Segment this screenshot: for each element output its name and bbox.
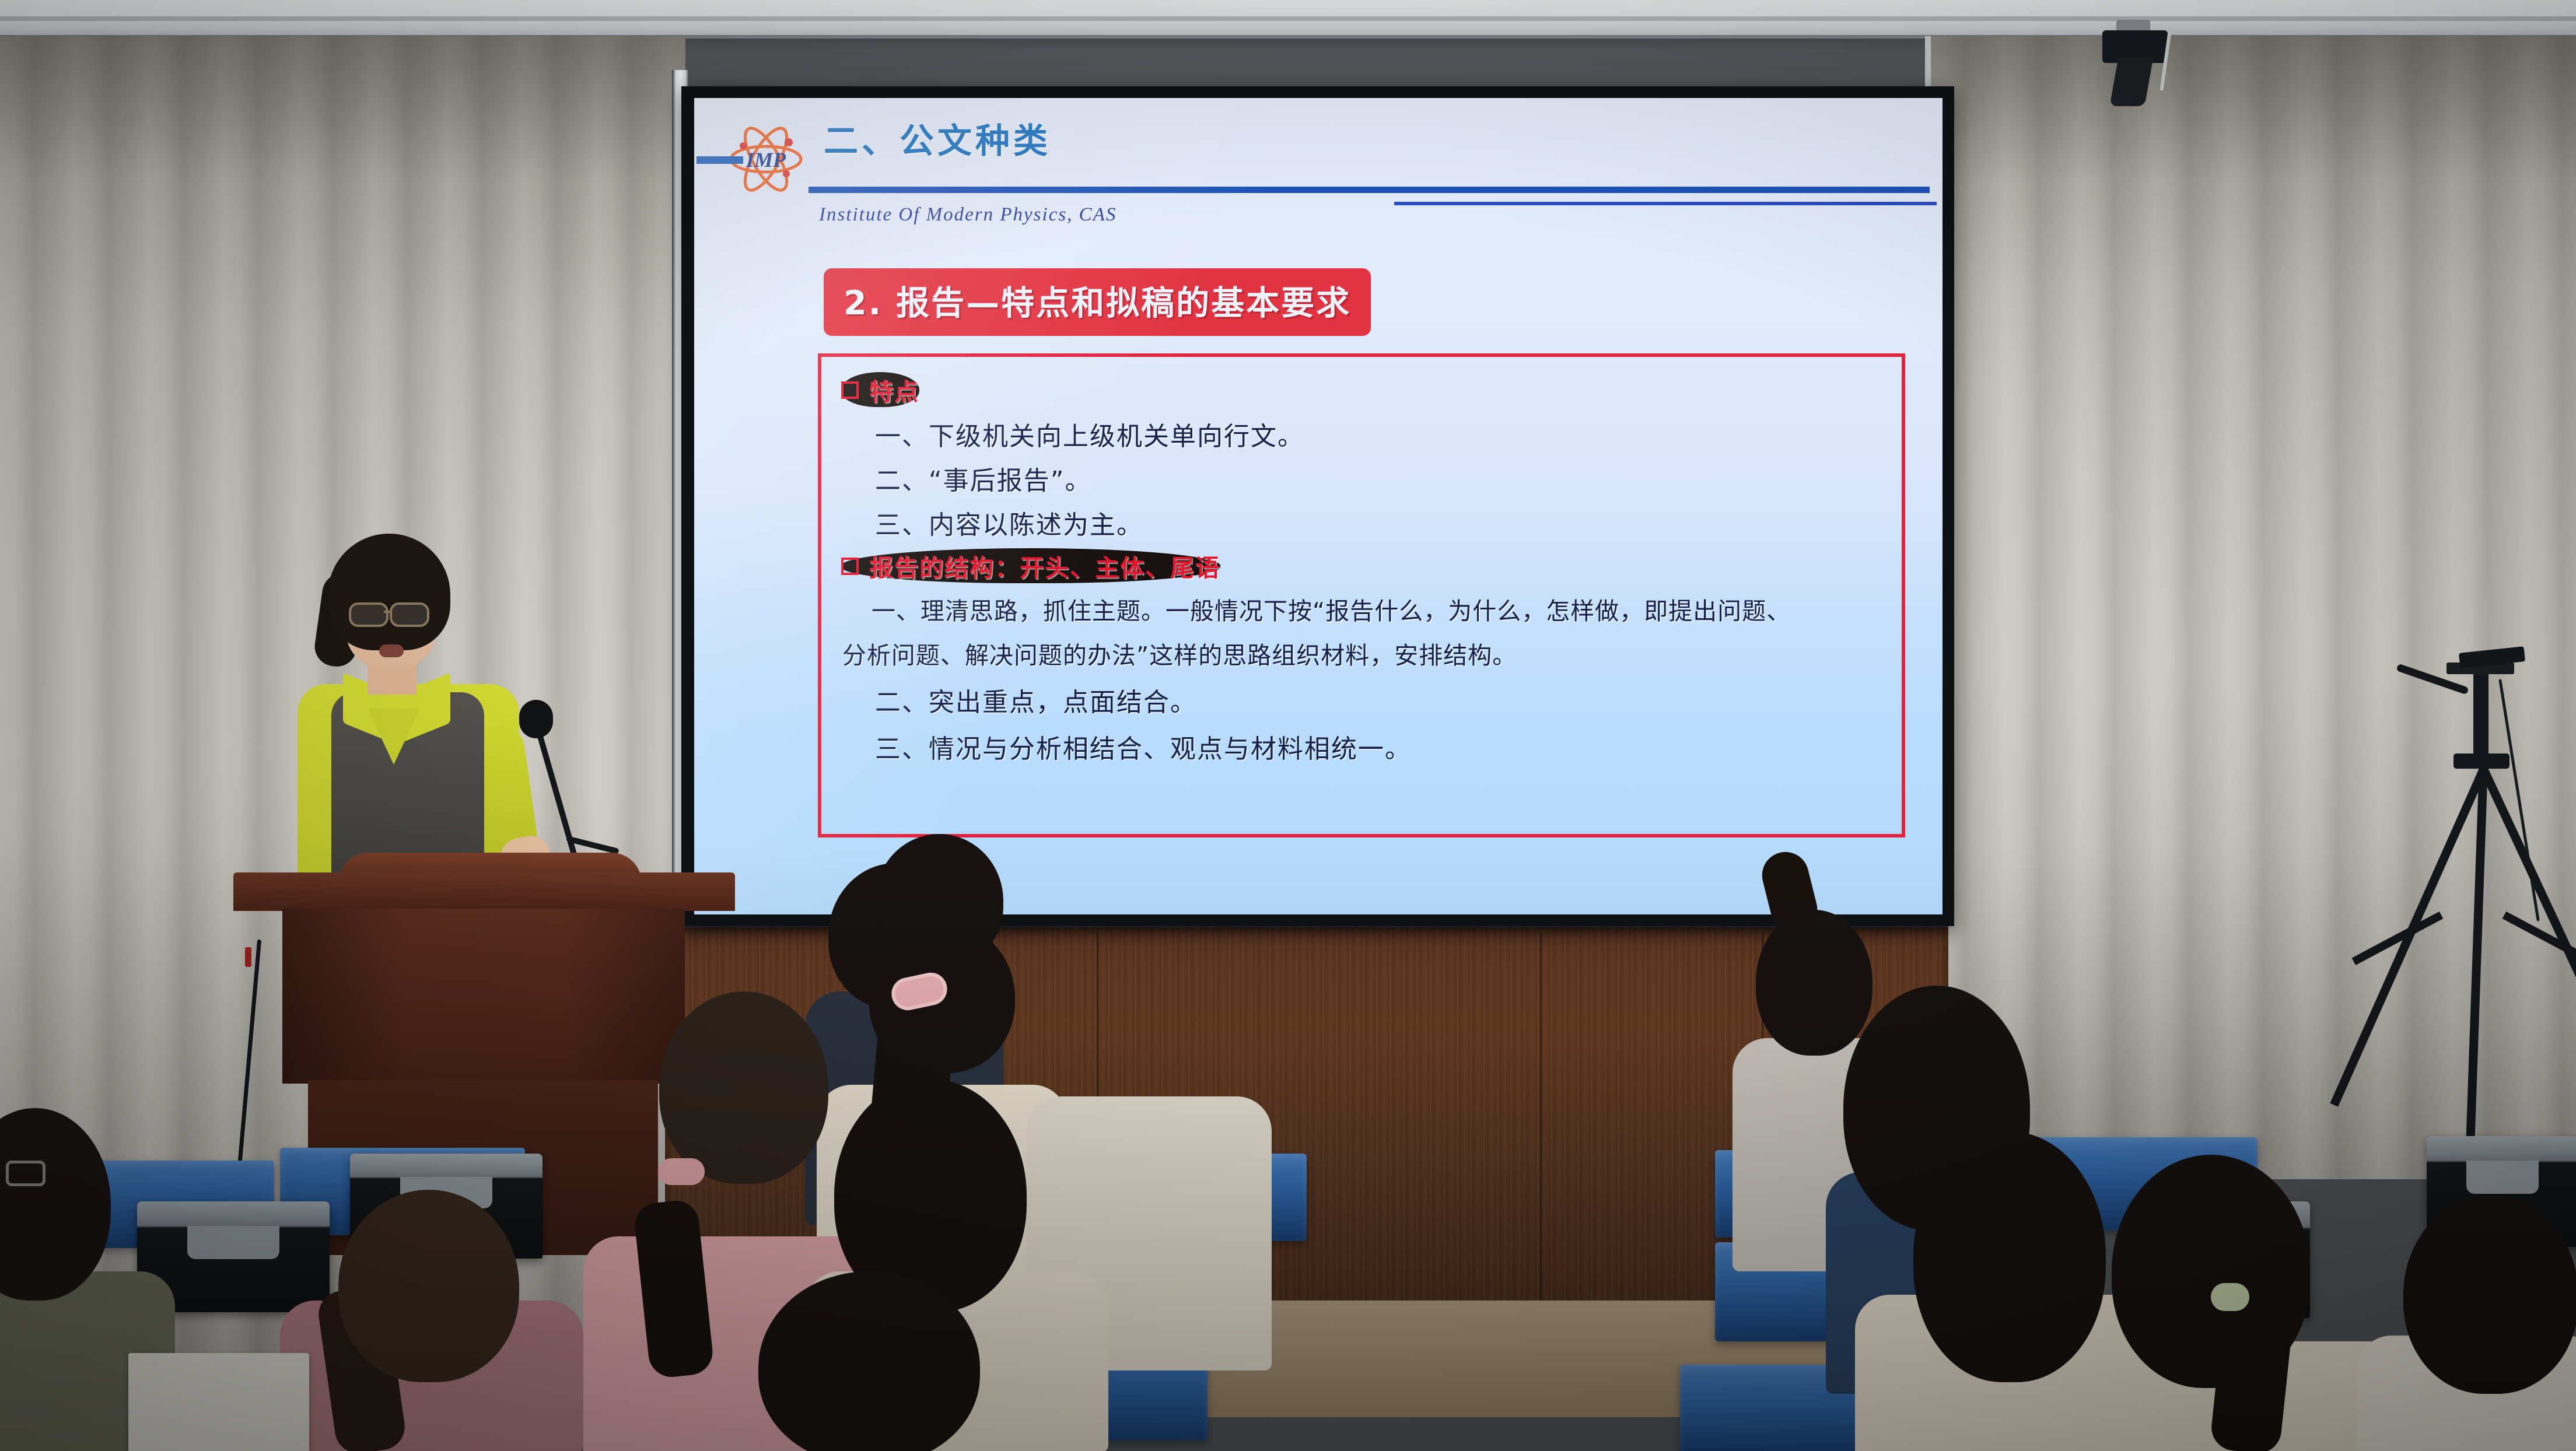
lectern-cable: [235, 940, 261, 1196]
tripod-leg: [2466, 764, 2488, 1137]
slide-list-item: 二、“事后报告”。: [875, 460, 1092, 497]
audience-head: [338, 1190, 519, 1382]
audience-ponytail: [2209, 1303, 2294, 1451]
curtain-top-shadow: [1931, 36, 2576, 182]
lectern-cable-marker: [245, 947, 251, 967]
audience-head: [1913, 1131, 2106, 1382]
slide-rule-thin: [1394, 202, 1937, 205]
slide-title: 二、公文种类: [824, 113, 1051, 163]
hair-scrunchie-icon: [658, 1158, 705, 1185]
slide-section-heading-2: 报告的结构：开头、主体、尾语: [841, 548, 1220, 583]
imp-wordmark: IMP: [745, 148, 786, 171]
eyeglasses-left-lens-icon: [349, 602, 388, 627]
slide-section-heading-1: 特点: [841, 372, 919, 407]
eyeglasses-bridge: [384, 611, 392, 613]
audience-head: [659, 991, 828, 1184]
slide-list-item: 二、突出重点，点面结合。: [875, 681, 1197, 719]
eyeglasses-icon: [6, 1161, 45, 1186]
ceiling-curtain-rail: [0, 16, 2576, 21]
audience-head: [2403, 1196, 2576, 1394]
slide-list-item: 一、理清思路，抓住主题。一般情况下按“报告什么，为什么，怎样做，即提出问题、: [871, 591, 1791, 626]
audience-head: [1756, 910, 1873, 1056]
slide-list-item: 三、内容以陈述为主。: [875, 504, 1143, 541]
projection-screen[interactable]: IMP 二、公文种类 Institute Of Modern Physics, …: [694, 98, 1943, 914]
lectern-top: [233, 872, 735, 911]
tripod-hub: [2453, 753, 2509, 769]
presenter-mouth: [379, 644, 404, 657]
notebook: [128, 1353, 309, 1451]
slide-section-banner: 2. 报告—特点和拟稿的基本要求: [824, 268, 1371, 336]
curtain-top-shadow: [0, 36, 685, 182]
tripod-center-column: [2473, 673, 2488, 758]
square-bullet-icon: [841, 558, 859, 575]
slide-rule-thick: [808, 187, 1930, 193]
slide-body-box: 特点 一、下级机关向上级机关单向行文。 二、“事后报告”。 三、内容以陈述为主。…: [818, 353, 1905, 837]
camera-lens: [2110, 57, 2154, 106]
wainscot-seam: [1540, 933, 1542, 1306]
security-camera-icon: [2099, 20, 2169, 107]
slide-list-item: 分析问题、解决问题的办法”这样的思路组织材料，安排结构。: [842, 636, 1517, 671]
hair-tie-icon: [2211, 1283, 2249, 1311]
camera-tripod-icon: [2408, 650, 2560, 1145]
slide-accent-dash: [696, 156, 743, 164]
slide-list-item: 一、下级机关向上级机关单向行文。: [875, 415, 1304, 453]
eyeglasses-right-lens-icon: [390, 602, 429, 627]
audience-head: [875, 834, 1003, 968]
lectern-shading: [282, 909, 685, 1084]
slide-subtitle: Institute Of Modern Physics, CAS: [819, 204, 1116, 226]
presenter: [257, 534, 560, 907]
presenter-hair: [328, 534, 450, 650]
slide-list-item: 三、情况与分析相结合、观点与材料相统一。: [875, 728, 1412, 765]
square-bullet-icon: [841, 381, 859, 399]
lecture-hall-photo: IMP 二、公文种类 Institute Of Modern Physics, …: [0, 0, 2576, 1451]
audience-head: [758, 1271, 980, 1451]
